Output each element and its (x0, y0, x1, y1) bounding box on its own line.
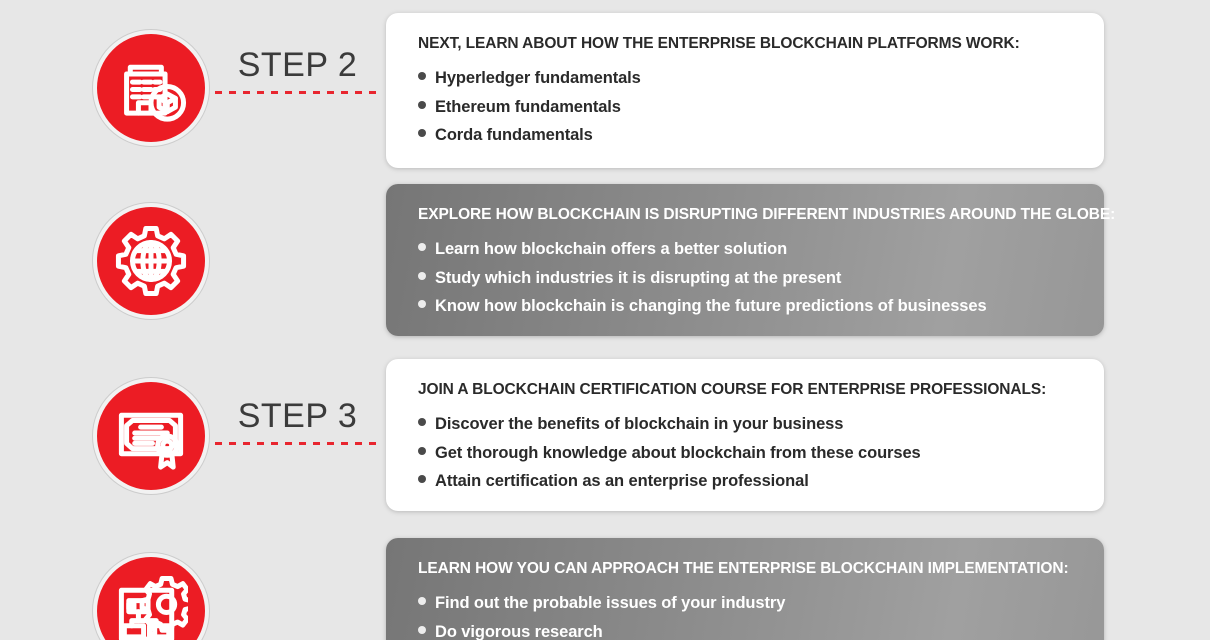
bullet-dot-icon (418, 101, 426, 109)
list-item-label: Learn how blockchain offers a better sol… (435, 235, 787, 264)
list-item-label: Hyperledger fundamentals (435, 64, 641, 93)
step-label-group: STEP 2 (215, 46, 380, 94)
step-row: STEP 4 JOIN A BLOCKCHAIN CERTIFICATION C… (0, 359, 1210, 515)
list-item: Attain certification as an enterprise pr… (402, 467, 1078, 496)
list-item-label: Attain certification as an enterprise pr… (435, 467, 809, 496)
card-bullet-list: Find out the probable issues of your ind… (402, 589, 1078, 640)
step-icon-badge (93, 553, 209, 640)
bullet-dot-icon (418, 129, 426, 137)
list-item: Do vigorous research (402, 618, 1078, 640)
card-heading: LEARN HOW YOU CAN APPROACH THE ENTERPRIS… (402, 560, 1078, 578)
bullet-dot-icon (418, 300, 426, 308)
list-item: Know how blockchain is changing the futu… (402, 292, 1078, 321)
list-item: Learn how blockchain offers a better sol… (402, 235, 1078, 264)
step-icon-badge (93, 30, 209, 146)
bullet-dot-icon (418, 475, 426, 483)
list-item-label: Discover the benefits of blockchain in y… (435, 410, 843, 439)
globe-gear-icon (114, 224, 188, 298)
bullet-dot-icon (418, 626, 426, 634)
list-item: Study which industries it is disrupting … (402, 264, 1078, 293)
step-icon-badge (93, 203, 209, 319)
blockchain-steps-infographic: STEP 2 NEXT, LEARN ABOUT HOW THE ENTERPR… (0, 0, 1210, 640)
card-bullet-list: Hyperledger fundamentals Ethereum fundam… (402, 64, 1078, 150)
list-item: Discover the benefits of blockchain in y… (402, 410, 1078, 439)
step-content-card: NEXT, LEARN ABOUT HOW THE ENTERPRISE BLO… (386, 13, 1104, 168)
bullet-dot-icon (418, 243, 426, 251)
list-item-label: Find out the probable issues of your ind… (435, 589, 785, 618)
step-content-card: EXPLORE HOW BLOCKCHAIN IS DISRUPTING DIF… (386, 184, 1104, 336)
step-dashed-connector (215, 91, 377, 94)
list-item-label: Ethereum fundamentals (435, 93, 621, 122)
list-item-label: Know how blockchain is changing the futu… (435, 292, 987, 321)
list-item-label: Do vigorous research (435, 618, 603, 640)
card-bullet-list: Learn how blockchain offers a better sol… (402, 235, 1078, 321)
flowchart-gear-icon (114, 574, 188, 640)
list-item-label: Get thorough knowledge about blockchain … (435, 439, 921, 468)
list-item: Hyperledger fundamentals (402, 64, 1078, 93)
enterprise-building-block-icon (114, 51, 188, 125)
bullet-dot-icon (418, 418, 426, 426)
list-item-label: Corda fundamentals (435, 121, 593, 150)
list-item: Corda fundamentals (402, 121, 1078, 150)
card-heading: EXPLORE HOW BLOCKCHAIN IS DISRUPTING DIF… (402, 206, 1078, 224)
step-content-card: LEARN HOW YOU CAN APPROACH THE ENTERPRIS… (386, 538, 1104, 640)
bullet-dot-icon (418, 597, 426, 605)
step-row: STEP 2 NEXT, LEARN ABOUT HOW THE ENTERPR… (0, 8, 1210, 168)
step-row: STEP 5 LEARN HOW YOU CAN APPROACH THE EN… (0, 534, 1210, 640)
card-heading: JOIN A BLOCKCHAIN CERTIFICATION COURSE F… (402, 381, 1078, 399)
bullet-dot-icon (418, 447, 426, 455)
card-bullet-list: Discover the benefits of blockchain in y… (402, 410, 1078, 496)
list-item: Find out the probable issues of your ind… (402, 589, 1078, 618)
bullet-dot-icon (418, 272, 426, 280)
step-icon-badge (93, 378, 209, 494)
step-label: STEP 2 (215, 46, 380, 84)
card-heading: NEXT, LEARN ABOUT HOW THE ENTERPRISE BLO… (402, 35, 1078, 53)
step-row: STEP 3 EXPLORE HOW BLOCKCHAIN IS DISRUPT… (0, 184, 1210, 340)
bullet-dot-icon (418, 72, 426, 80)
list-item: Get thorough knowledge about blockchain … (402, 439, 1078, 468)
list-item: Ethereum fundamentals (402, 93, 1078, 122)
step-content-card: JOIN A BLOCKCHAIN CERTIFICATION COURSE F… (386, 359, 1104, 511)
list-item-label: Study which industries it is disrupting … (435, 264, 841, 293)
certificate-award-icon (114, 399, 188, 473)
